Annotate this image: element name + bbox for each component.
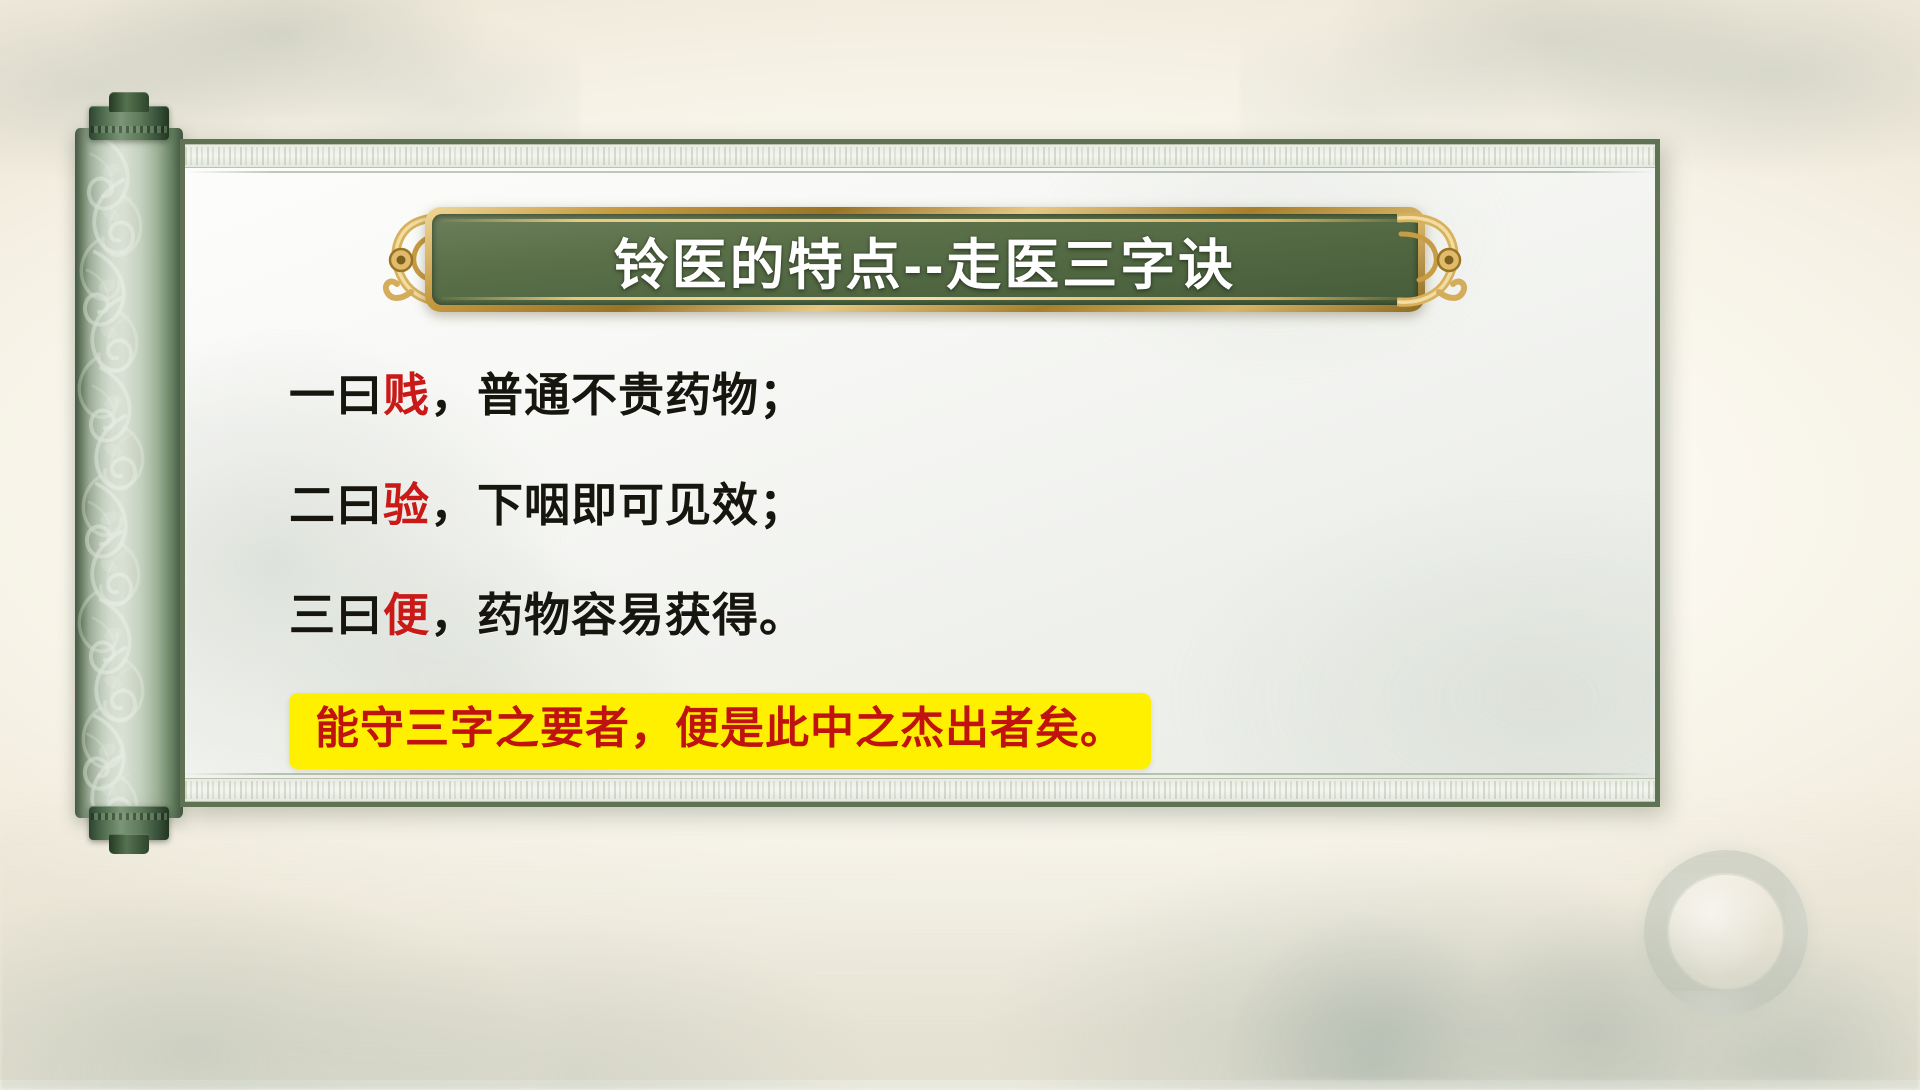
paper-rule-top <box>185 171 1655 173</box>
body-line-1-prefix: 一曰 <box>289 369 383 421</box>
roller-sheen <box>75 128 183 818</box>
roller-body <box>75 128 183 818</box>
highlight-callout-box: 能守三字之要者，便是此中之杰出者矣。 <box>289 693 1151 769</box>
background-cloud-bottom <box>0 790 1920 1090</box>
plaque-ornament-right-icon <box>1397 208 1469 312</box>
body-line-3-suffix: ，药物容易获得。 <box>430 589 806 641</box>
title-plaque: 铃医的特点--走医三字诀 <box>425 207 1425 312</box>
ornament-band-top <box>185 144 1655 168</box>
highlight-callout-text: 能守三字之要者，便是此中之杰出者矣。 <box>315 704 1125 753</box>
scroll-roller <box>75 92 183 854</box>
roller-ring-bottom <box>91 813 167 820</box>
body-line-2: 二曰验，下咽即可见效； <box>289 469 1595 535</box>
body-line-1-suffix: ，普通不贵药物； <box>430 369 806 421</box>
plaque-gold-frame: 铃医的特点--走医三字诀 <box>425 207 1425 312</box>
jade-ring-watermark-icon <box>1644 850 1808 1014</box>
body-line-3-keyword: 便 <box>383 589 430 641</box>
body-line-3-prefix: 三曰 <box>289 589 383 641</box>
paper-surface: 铃医的特点--走医三字诀 <box>185 144 1655 802</box>
roller-ring-top <box>91 126 167 133</box>
body-line-2-keyword: 验 <box>383 479 430 531</box>
body-line-2-suffix: ，下咽即可见效； <box>430 479 806 531</box>
roller-knob-top <box>109 92 149 112</box>
body-line-1-keyword: 贱 <box>383 369 430 421</box>
page-title: 铃医的特点--走医三字诀 <box>614 220 1237 300</box>
roller-knob-bottom <box>109 834 149 854</box>
slide-canvas: 铃医的特点--走医三字诀 <box>0 0 1920 1080</box>
body-line-2-prefix: 二曰 <box>289 479 383 531</box>
body-content: 一曰贱，普通不贵药物； 二曰验，下咽即可见效； 三曰便，药物容易获得。 能守三字… <box>289 359 1595 769</box>
ornament-band-bottom <box>185 778 1655 802</box>
plaque-face: 铃医的特点--走医三字诀 <box>432 214 1418 305</box>
body-line-1: 一曰贱，普通不贵药物； <box>289 359 1595 425</box>
body-line-3: 三曰便，药物容易获得。 <box>289 579 1595 645</box>
paper-rule-bottom <box>185 773 1655 775</box>
scroll-paper-panel: 铃医的特点--走医三字诀 <box>180 139 1660 807</box>
